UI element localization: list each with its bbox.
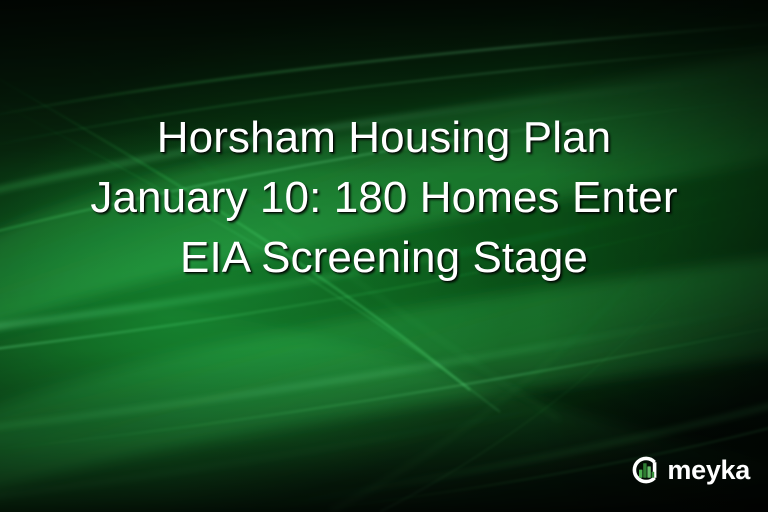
- meyka-logo[interactable]: meyka: [629, 453, 750, 487]
- meyka-wordmark: meyka: [667, 457, 750, 484]
- promo-banner: Horsham Housing Plan January 10: 180 Hom…: [0, 0, 768, 512]
- headline-line-1: Horsham Housing Plan: [0, 108, 768, 168]
- logo-icon-svg: [629, 453, 663, 487]
- headline: Horsham Housing Plan January 10: 180 Hom…: [0, 108, 768, 288]
- headline-line-3: EIA Screening Stage: [0, 228, 768, 288]
- headline-line-2: January 10: 180 Homes Enter: [0, 168, 768, 228]
- meyka-circle-bars-icon: [629, 453, 663, 487]
